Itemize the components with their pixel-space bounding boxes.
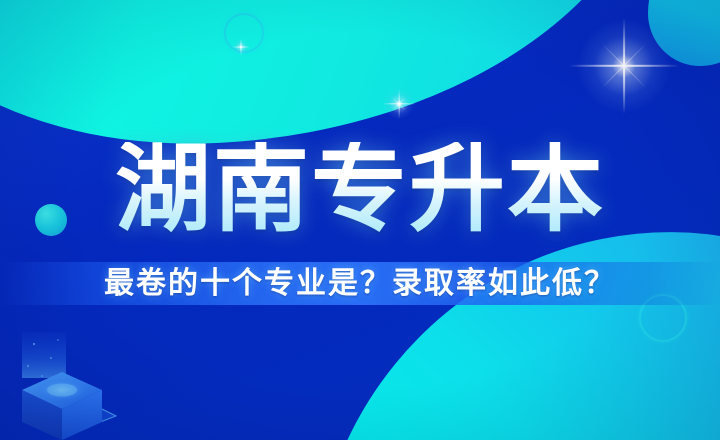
promo-banner: 湖南专升本 最卷的十个专业是？录取率如此低？ — [0, 0, 720, 440]
banner-title-container: 湖南专升本 — [0, 142, 720, 238]
ring-top-outline — [224, 13, 264, 53]
sparkle-medium-icon — [398, 103, 400, 105]
banner-title: 湖南专升本 — [115, 142, 605, 238]
sparkle-tiny-icon — [240, 46, 242, 48]
banner-subtitle-container: 最卷的十个专业是？录取率如此低？ — [0, 265, 720, 303]
sparkle-large-icon — [623, 65, 625, 67]
banner-subtitle: 最卷的十个专业是？录取率如此低？ — [104, 265, 616, 303]
pedestal-cube-graphic — [4, 332, 124, 440]
blob-top-right-shape — [648, 0, 720, 66]
